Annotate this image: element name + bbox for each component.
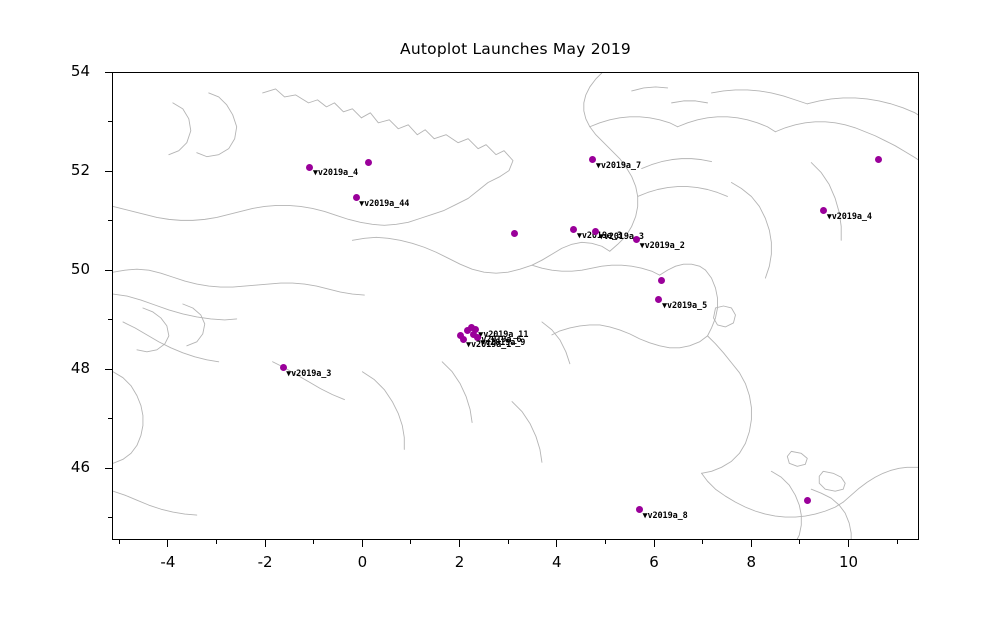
x-axis-tick-label: -4 [138,553,198,571]
data-point-marker[interactable] [365,159,372,166]
x-axis-tick-label: 4 [527,553,587,571]
y-axis-tick-label: 48 [18,359,90,377]
data-point-marker[interactable] [511,230,518,237]
data-point-label: ▼v2019a_8 [642,511,687,521]
y-axis-tick [105,72,112,73]
y-axis-minor-tick [108,517,112,518]
x-axis-tick-label: 2 [430,553,490,571]
data-point-marker[interactable] [804,497,811,504]
data-point-label: ▼v2019a_1 [466,340,511,350]
data-point-label: ▼v2019a_4 [827,212,872,222]
x-axis-minor-tick [897,540,898,544]
y-axis-tick-label: 50 [18,260,90,278]
y-axis-tick [105,468,112,469]
x-axis-minor-tick [508,540,509,544]
x-axis-minor-tick [799,540,800,544]
figure-canvas: Autoplot Launches May 2019 [0,0,1003,633]
y-axis-tick-label: 52 [18,161,90,179]
y-axis-tick-label: 46 [18,458,90,476]
page-title: Autoplot Launches May 2019 [112,40,919,58]
x-axis-tick [654,540,655,547]
y-axis-tick [105,369,112,370]
x-axis-tick [556,540,557,547]
y-axis-minor-tick [108,319,112,320]
x-axis-tick-label: 6 [624,553,684,571]
data-point-label: ▼v2019a_5 [662,301,707,311]
coastline-map [113,73,918,539]
x-axis-minor-tick [605,540,606,544]
x-axis-tick-label: -2 [235,553,295,571]
x-axis-tick-label: 10 [819,553,879,571]
y-axis-tick-label: 54 [18,62,90,80]
y-axis-minor-tick [108,418,112,419]
data-point-label: ▼v2019a_7 [596,161,641,171]
x-axis-tick [848,540,849,547]
data-point-label: ▼v2019a_44 [359,199,409,209]
x-axis-tick [362,540,363,547]
x-axis-tick-label: 8 [721,553,781,571]
y-axis-tick [105,171,112,172]
data-point-marker[interactable] [875,156,882,163]
x-axis-tick [265,540,266,547]
x-axis-tick-label: 0 [332,553,392,571]
data-point-label: ▼v2019a_3 [286,369,331,379]
y-axis-tick [105,270,112,271]
x-axis-minor-tick [216,540,217,544]
x-axis-minor-tick [702,540,703,544]
x-axis-tick [751,540,752,547]
data-point-marker[interactable] [658,277,665,284]
y-axis-minor-tick [108,121,112,122]
data-point-label: ▼v2019a_4 [313,168,358,178]
x-axis-minor-tick [313,540,314,544]
x-axis-minor-tick [119,540,120,544]
data-point-label: ▼v2019a_2 [640,241,685,251]
x-axis-tick [167,540,168,547]
scatter-plot-axes[interactable]: ▼v2019a_4▼v2019a_44▼v2019a_7▼v2019a_4▼v2… [112,72,919,540]
x-axis-minor-tick [410,540,411,544]
y-axis-minor-tick [108,220,112,221]
x-axis-tick [459,540,460,547]
